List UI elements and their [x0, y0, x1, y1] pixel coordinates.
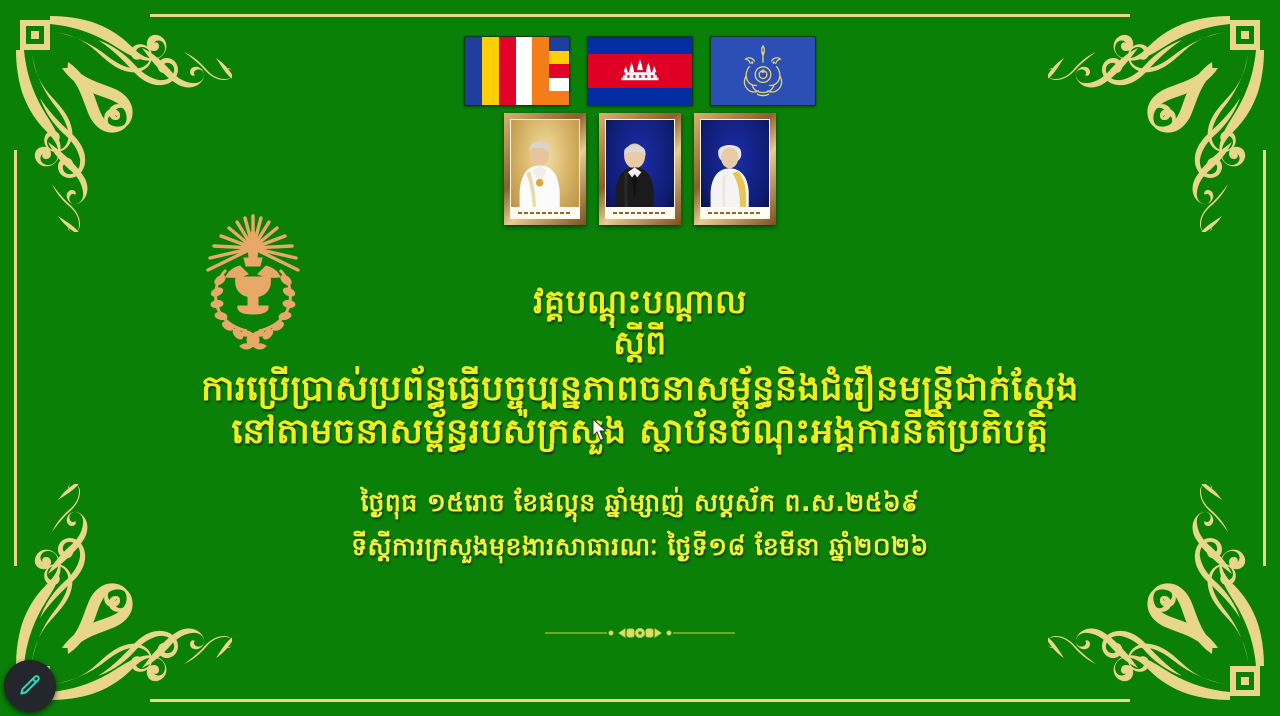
banner-subject-line-2: នៅតាមចនាសម្ព័ន្ធរបស់ក្រសួង ស្ថាប័នចំណុះអ… — [0, 412, 1280, 453]
border-line-bottom — [150, 699, 1130, 702]
banner-date-venue: ទីស្តីការក្រសួងមុខងារសាធារណៈ ថ្ងៃទី១៨ ខែ… — [0, 532, 1280, 562]
royal-arms-icon — [731, 41, 795, 101]
portrait-queen-mother-norodom-monineath — [694, 113, 776, 225]
royal-standard-flag — [710, 36, 816, 106]
annotate-pencil-button[interactable] — [4, 660, 56, 712]
banner-subject-line-1: ការប្រើប្រាស់ប្រព័ន្ធធ្វើបច្ចុប្បន្នភាពច… — [0, 369, 1280, 410]
banner-title-line-2: ស្តីពី — [0, 324, 1280, 363]
presentation-slide: វគ្គបណ្តុះបណ្តាល ស្តីពី ការប្រើប្រាស់ប្រ… — [0, 0, 1280, 716]
border-line-top — [150, 14, 1130, 17]
portrait-king-father-norodom-sihanouk — [599, 113, 681, 225]
banner-title-line-1: វគ្គបណ្តុះបណ្តាល — [0, 283, 1280, 322]
portrait-caption — [606, 207, 674, 218]
angkor-wat-icon — [604, 58, 677, 83]
flags-row — [0, 36, 1280, 106]
cambodia-national-flag — [587, 36, 693, 106]
portrait-caption — [701, 207, 769, 218]
portrait-king-norodom-sihamoni — [504, 113, 586, 225]
banner-text-block: វគ្គបណ្តុះបណ្តាល ស្តីពី ការប្រើប្រាស់ប្រ… — [0, 283, 1280, 561]
royal-portraits-row — [0, 113, 1280, 225]
pencil-icon — [17, 673, 43, 699]
portrait-caption — [511, 207, 579, 218]
banner-date-khmer: ថ្ងៃពុធ ១៥រោច ខែផល្គុន ឆ្នាំម្សាញ់ សប្តស… — [0, 488, 1280, 518]
divider-ornament — [545, 625, 735, 641]
buddhist-flag — [464, 36, 570, 106]
